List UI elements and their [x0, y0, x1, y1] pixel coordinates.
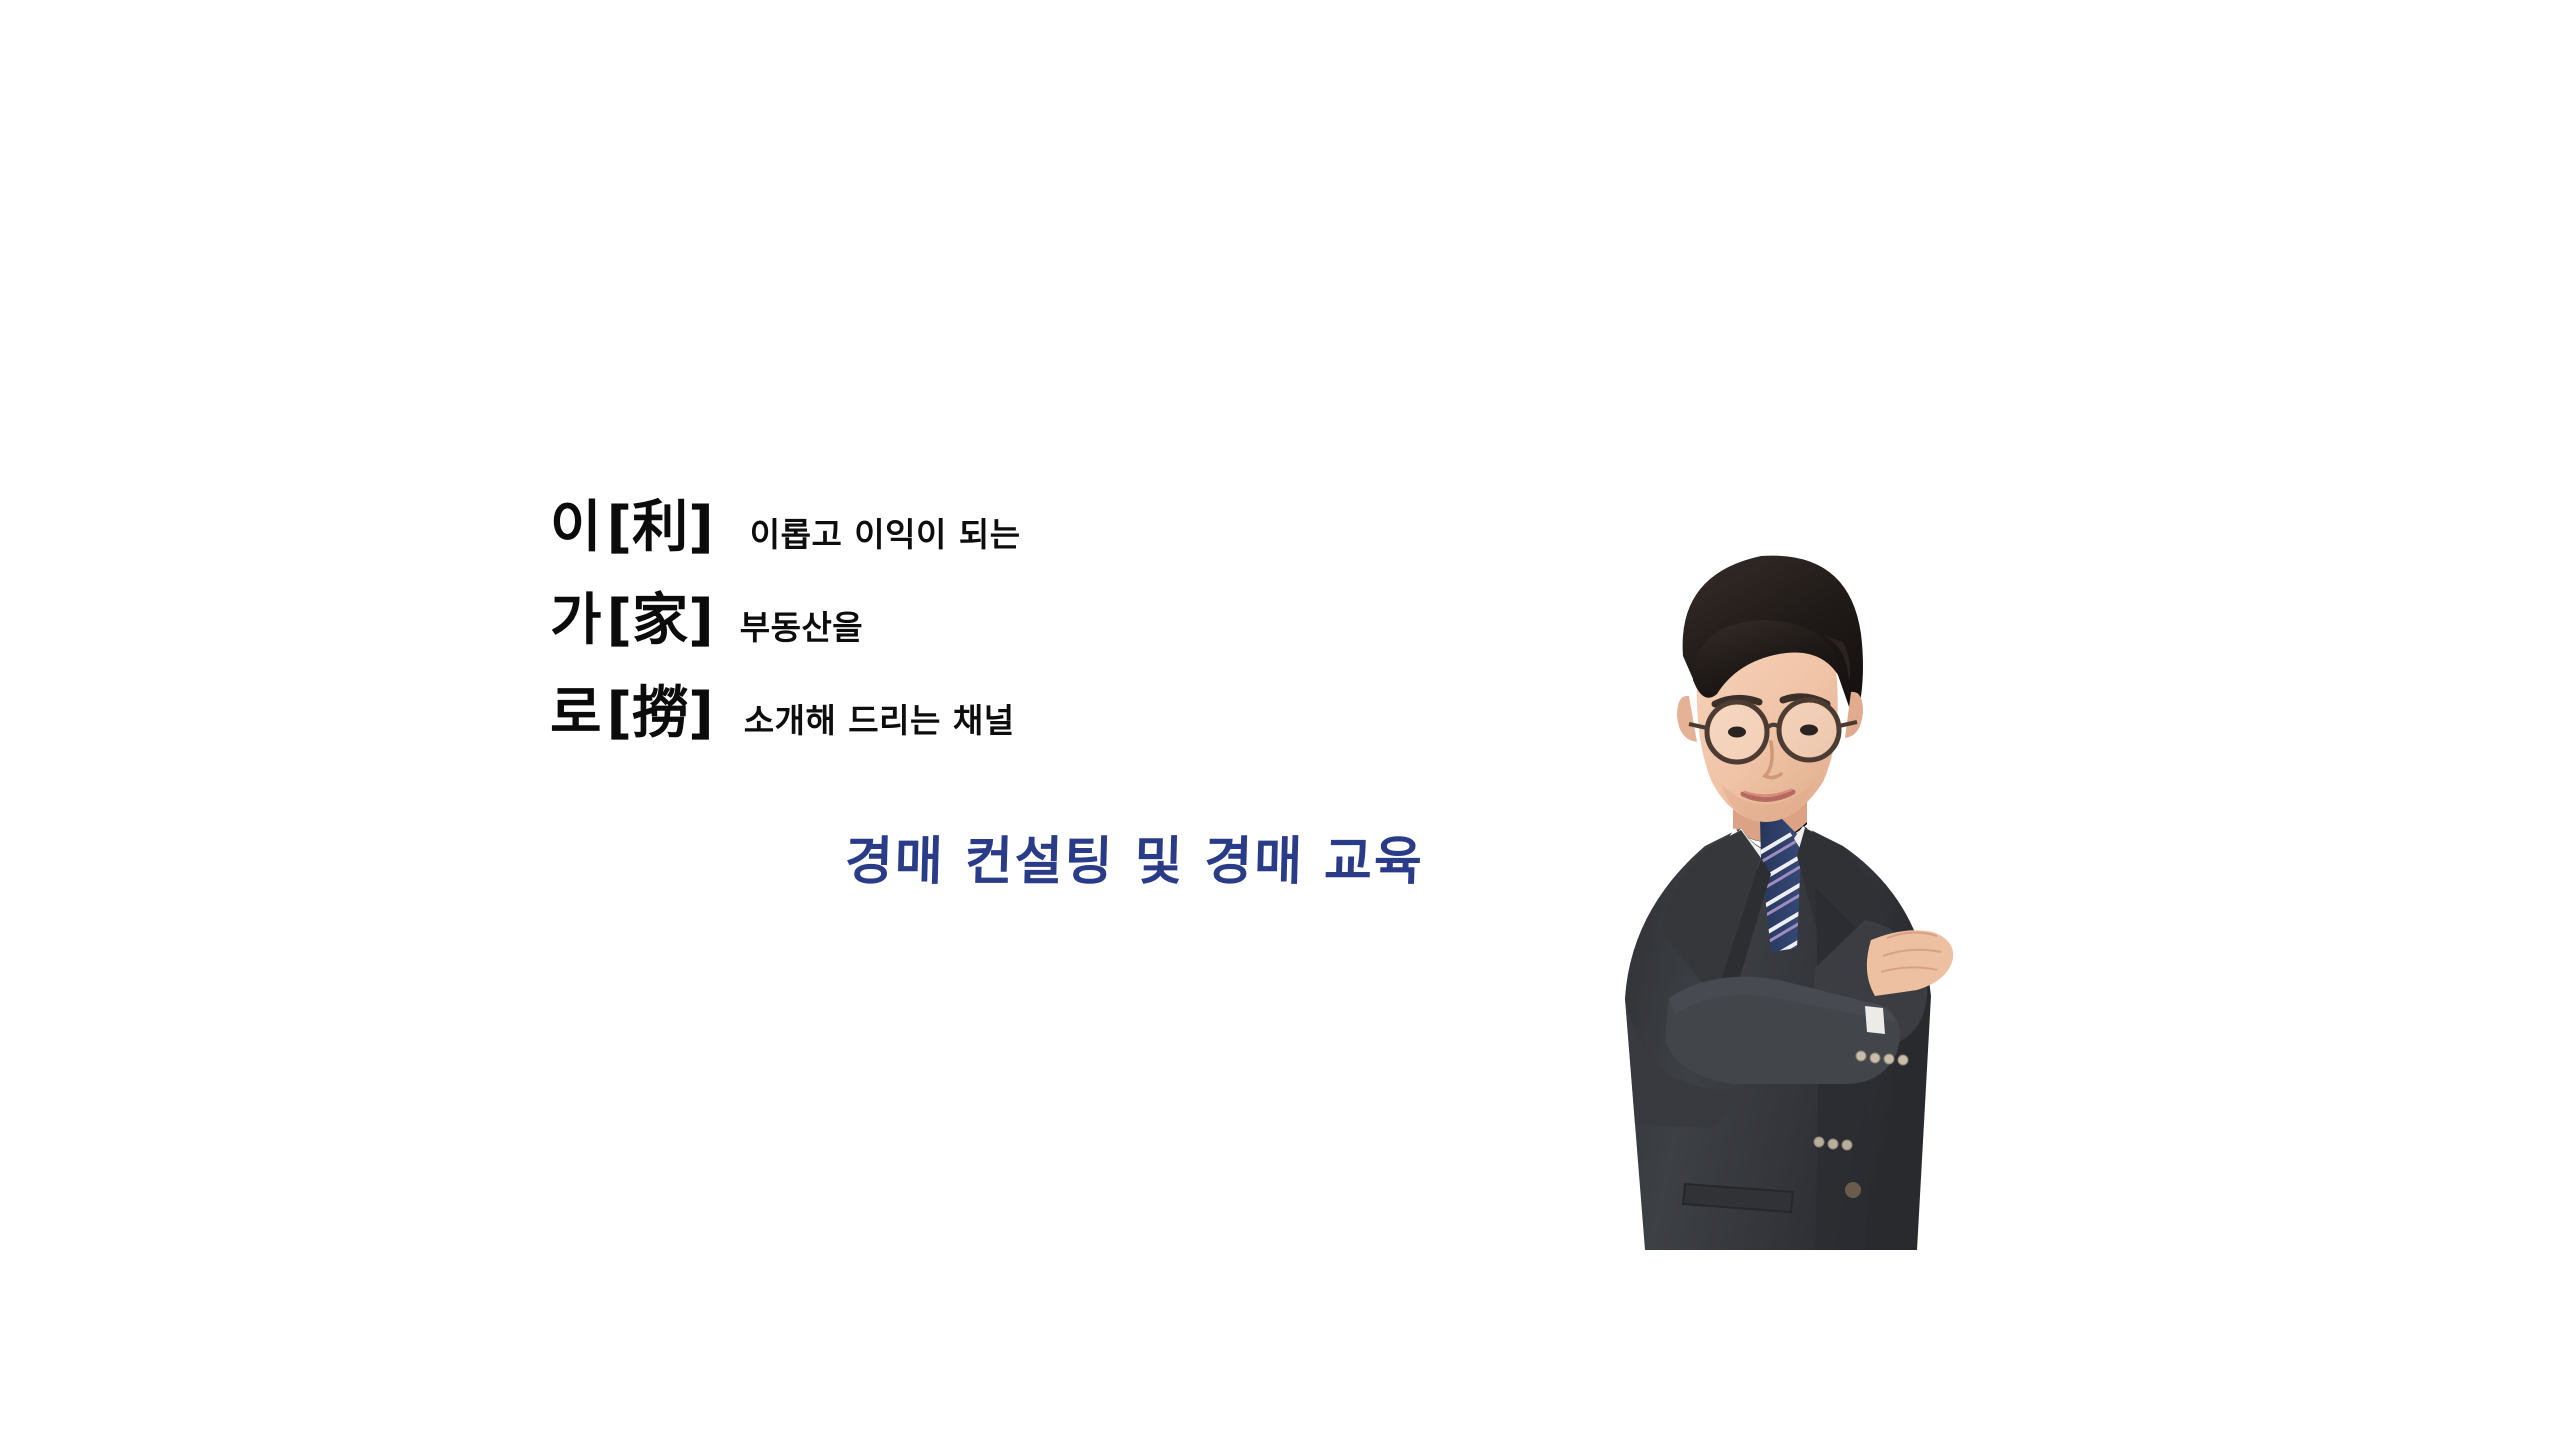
portrait-photo: [1565, 528, 2015, 1250]
acrostic-syllable-3: 로: [550, 686, 603, 742]
acrostic-gloss-2: 부동산을: [740, 611, 863, 644]
eye-left: [1728, 727, 1746, 738]
acrostic-row-2: 가 [家] 부동산을: [550, 593, 1650, 686]
jacket-button: [1845, 1182, 1861, 1198]
acrostic-hanja-3: [撈]: [607, 686, 714, 742]
slide-canvas: 이 [利] 이롭고 이익이 되는 가 [家] 부동산을 로 [撈] 소개해 드리…: [0, 0, 2560, 1440]
eye-right: [1800, 725, 1818, 736]
acrostic-gloss-1: 이롭고 이익이 되는: [750, 518, 1021, 551]
acrostic-text-block: 이 [利] 이롭고 이익이 되는 가 [家] 부동산을 로 [撈] 소개해 드리…: [550, 500, 1650, 779]
acrostic-row-3: 로 [撈] 소개해 드리는 채널: [550, 686, 1650, 779]
acrostic-gloss-3: 소개해 드리는 채널: [744, 704, 1015, 737]
acrostic-hanja-1: [利]: [607, 500, 714, 556]
acrostic-hanja-2: [家]: [607, 593, 714, 649]
acrostic-syllable-1: 이: [550, 500, 603, 556]
tagline: 경매 컨설팅 및 경매 교육: [844, 836, 1424, 888]
acrostic-row-1: 이 [利] 이롭고 이익이 되는: [550, 500, 1650, 593]
crossed-hand: [1867, 930, 1953, 996]
portrait-illustration: [1565, 528, 2015, 1250]
acrostic-syllable-2: 가: [550, 593, 603, 649]
